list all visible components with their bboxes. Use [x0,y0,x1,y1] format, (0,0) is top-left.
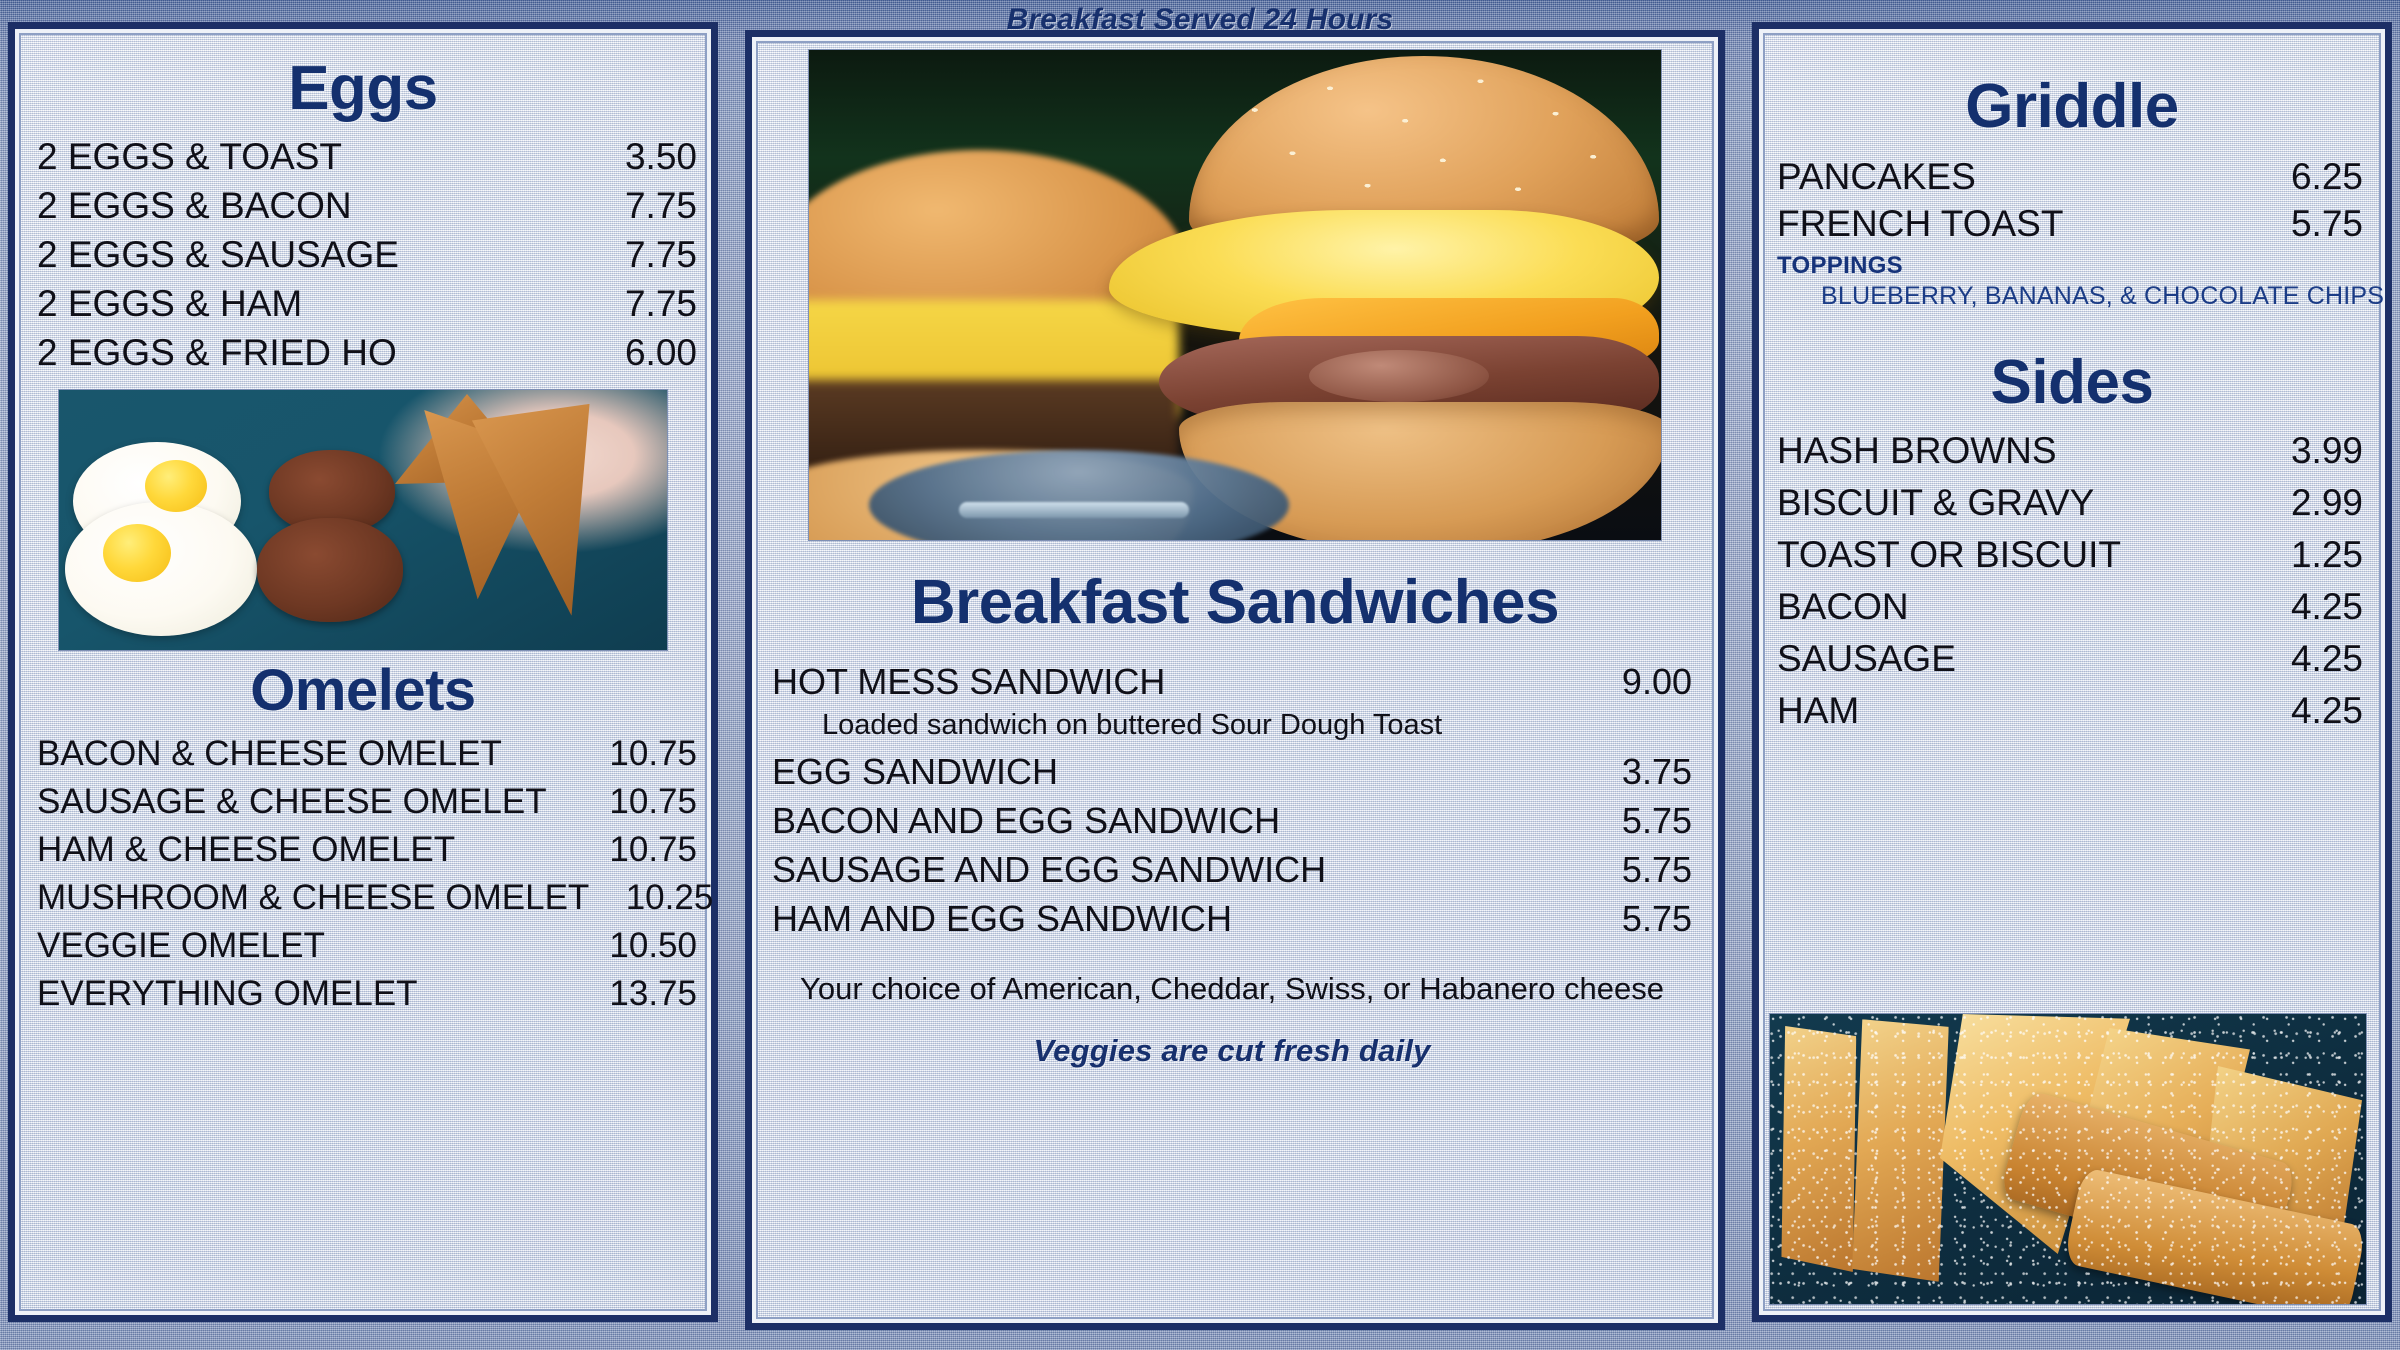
item-price: 10.50 [573,928,697,963]
item-name: 2 EGGS & FRIED HO [37,334,397,371]
item-price: 2.99 [2239,484,2363,521]
item-name: MUSHROOM & CHEESE OMELET [37,880,589,915]
menu-row: MUSHROOM & CHEESE OMELET 10.25 [37,880,697,915]
item-name: SAUSAGE & CHEESE OMELET [37,784,547,819]
menu-row: BISCUIT & GRAVY 2.99 [1777,484,2363,521]
toppings-label: TOPPINGS [1759,252,2385,280]
item-price: 3.99 [2239,432,2363,469]
item-price: 5.75 [2239,205,2363,242]
item-price: 3.50 [573,138,697,175]
panel-breakfast-sandwiches: Breakfast Sandwiches HOT MESS SANDWICH 9… [745,30,1725,1330]
item-name: HAM [1777,692,1859,729]
menu-row: SAUSAGE 4.25 [1777,640,2363,677]
menu-row: 2 EGGS & TOAST 3.50 [37,138,697,175]
item-price: 13.75 [573,976,697,1011]
section-title-omelets: Omelets [15,657,711,724]
menu-row: BACON & CHEESE OMELET 10.75 [37,736,697,771]
section-title-breakfast-sandwiches: Breakfast Sandwiches [752,567,1718,638]
item-name: SAUSAGE AND EGG SANDWICH [772,852,1326,888]
photo-french-toast [1769,1013,2367,1305]
item-price: 5.75 [1566,901,1692,937]
item-name: SAUSAGE [1777,640,1956,677]
menu-row: EVERYTHING OMELET 13.75 [37,976,697,1011]
menu-row: 2 EGGS & SAUSAGE 7.75 [37,236,697,273]
item-price: 7.75 [573,187,697,224]
section-title-sides: Sides [1759,347,2385,418]
banner-veggies-cut-fresh-daily: Veggies are cut fresh daily [772,1033,1692,1069]
hot-mess-description: Loaded sandwich on buttered Sour Dough T… [772,709,1692,742]
menu-row: 2 EGGS & HAM 7.75 [37,285,697,322]
panel-eggs-omelets: Eggs 2 EGGS & TOAST 3.50 2 EGGS & BACON … [8,22,718,1322]
item-name: BACON [1777,588,1909,625]
item-price: 5.75 [1566,803,1692,839]
item-price: 6.00 [573,334,697,371]
item-price: 3.75 [1566,754,1692,790]
item-name: HAM & CHEESE OMELET [37,832,455,867]
menu-row: 2 EGGS & FRIED HO 6.00 [37,334,697,371]
item-price: 7.75 [573,236,697,273]
item-price: 9.00 [1566,664,1692,700]
photo-breakfast-sandwich [808,49,1662,541]
photo-eggs-sausage-toast [58,389,668,651]
item-price: 4.25 [2239,588,2363,625]
item-name: VEGGIE OMELET [37,928,325,963]
menu-row: VEGGIE OMELET 10.50 [37,928,697,963]
griddle-menu-list: PANCAKES 6.25 FRENCH TOAST 5.75 [1759,158,2385,242]
item-name: TOAST OR BISCUIT [1777,536,2121,573]
menu-row: TOAST OR BISCUIT 1.25 [1777,536,2363,573]
section-title-griddle: Griddle [1759,71,2385,142]
item-name: BISCUIT & GRAVY [1777,484,2094,521]
item-name: 2 EGGS & HAM [37,285,302,322]
cheese-choice-note: Your choice of American, Cheddar, Swiss,… [772,971,1692,1007]
item-price: 1.25 [2239,536,2363,573]
item-price: 6.25 [2239,158,2363,195]
item-name: HOT MESS SANDWICH [772,664,1165,700]
menu-row: PANCAKES 6.25 [1777,158,2363,195]
sandwiches-menu-list: HOT MESS SANDWICH 9.00 Loaded sandwich o… [752,664,1718,1069]
section-title-eggs: Eggs [15,53,711,124]
menu-row: SAUSAGE & CHEESE OMELET 10.75 [37,784,697,819]
toppings-value: BLUEBERRY, BANANAS, & CHOCOLATE CHIPS [1759,282,2385,311]
item-price: 4.25 [2239,640,2363,677]
menu-row: FRENCH TOAST 5.75 [1777,205,2363,242]
item-price: 10.75 [573,784,697,819]
item-name: FRENCH TOAST [1777,205,2063,242]
menu-row: HAM & CHEESE OMELET 10.75 [37,832,697,867]
item-name: HASH BROWNS [1777,432,2057,469]
menu-row: EGG SANDWICH 3.75 [772,754,1692,790]
omelets-menu-list: BACON & CHEESE OMELET 10.75 SAUSAGE & CH… [15,736,711,1011]
item-price: 10.75 [573,832,697,867]
sides-menu-list: HASH BROWNS 3.99 BISCUIT & GRAVY 2.99 TO… [1759,432,2385,729]
item-name: BACON AND EGG SANDWICH [772,803,1280,839]
item-name: 2 EGGS & TOAST [37,138,342,175]
menu-row: HOT MESS SANDWICH 9.00 [772,664,1692,700]
menu-row: BACON AND EGG SANDWICH 5.75 [772,803,1692,839]
item-price: 10.25 [589,880,713,915]
menu-row: HAM AND EGG SANDWICH 5.75 [772,901,1692,937]
item-price: 10.75 [573,736,697,771]
item-name: BACON & CHEESE OMELET [37,736,502,771]
menu-row: BACON 4.25 [1777,588,2363,625]
item-price: 5.75 [1566,852,1692,888]
item-name: 2 EGGS & BACON [37,187,352,224]
menu-row: HASH BROWNS 3.99 [1777,432,2363,469]
item-name: PANCAKES [1777,158,1976,195]
menu-row: 2 EGGS & BACON 7.75 [37,187,697,224]
item-name: 2 EGGS & SAUSAGE [37,236,399,273]
panel-griddle-sides: Griddle PANCAKES 6.25 FRENCH TOAST 5.75 … [1752,22,2392,1322]
item-name: EGG SANDWICH [772,754,1058,790]
item-price: 4.25 [2239,692,2363,729]
menu-row: HAM 4.25 [1777,692,2363,729]
menu-row: SAUSAGE AND EGG SANDWICH 5.75 [772,852,1692,888]
eggs-menu-list: 2 EGGS & TOAST 3.50 2 EGGS & BACON 7.75 … [15,138,711,371]
item-name: HAM AND EGG SANDWICH [772,901,1232,937]
item-name: EVERYTHING OMELET [37,976,418,1011]
item-price: 7.75 [573,285,697,322]
